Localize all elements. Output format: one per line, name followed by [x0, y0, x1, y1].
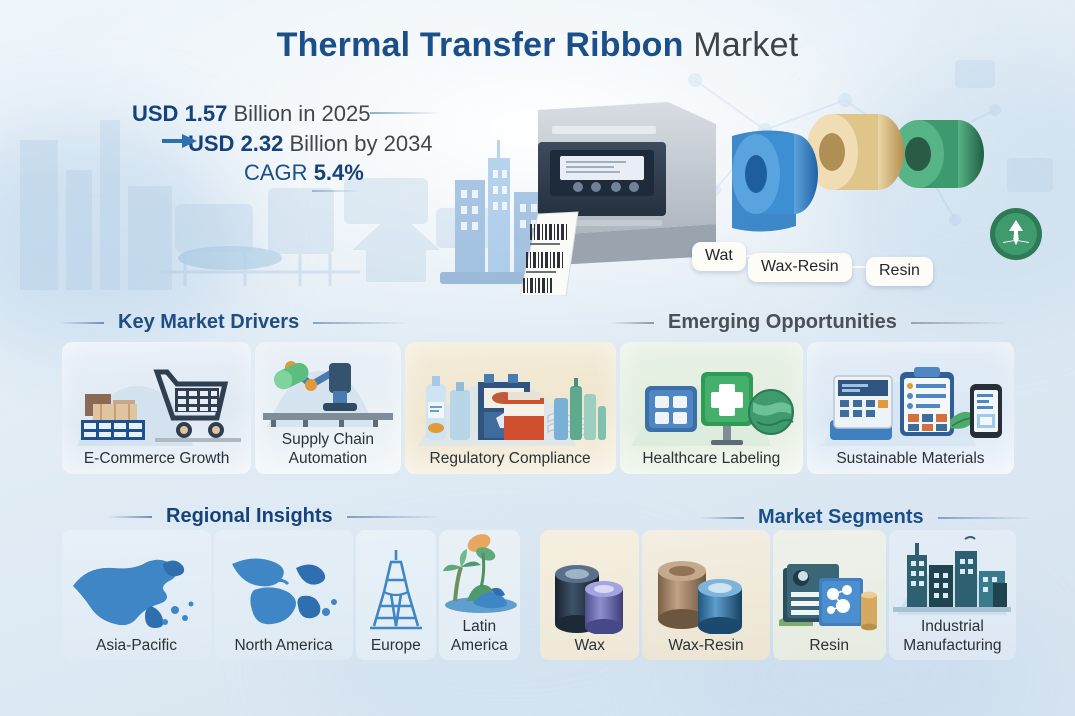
wax-rolls-icon — [540, 530, 639, 637]
stat-line-cagr: CAGR 5.4% — [132, 159, 552, 187]
page-title: Thermal Transfer Ribbon Market — [0, 26, 1075, 65]
region-label: Asia-Pacific — [96, 637, 177, 655]
card-supply-chain-automation[interactable]: Supply Chain Automation — [255, 342, 400, 474]
rule-left — [60, 322, 104, 324]
section-heading-label: Regional Insights — [166, 505, 333, 528]
packaged-goods-icon — [405, 342, 616, 450]
factory-buildings-icon — [889, 529, 1016, 618]
world-map-icon — [214, 530, 353, 637]
section-heading-market-segments: Market Segments — [700, 506, 1034, 529]
segment-label: Industrial Manufacturing — [903, 618, 1001, 655]
card-e-commerce-growth[interactable]: E-Commerce Growth — [62, 342, 251, 474]
section-heading-emerging-opportunities: Emerging Opportunities — [610, 311, 1007, 334]
rule-left — [108, 516, 152, 518]
page-title-muted: Market — [684, 26, 799, 64]
card-regulatory-compliance[interactable]: Regulatory Compliance — [405, 342, 616, 474]
drivers-opportunities-row: E-Commerce Growth — [62, 342, 1014, 474]
card-label: Sustainable Materials — [830, 450, 990, 468]
segment-card-wax-resin[interactable]: Wax-Resin — [642, 530, 769, 660]
section-heading-label: Market Segments — [758, 506, 924, 529]
region-card-asia-pacific[interactable]: Asia-Pacific — [62, 530, 211, 660]
ribbon-type-pill-wax-resin[interactable]: Wax-Resin — [748, 253, 852, 282]
eco-documents-tablet-icon — [807, 342, 1014, 450]
ribbon-type-pill-resin[interactable]: Resin — [866, 257, 933, 286]
region-label: North America — [234, 637, 332, 655]
stat-suffix-2034: Billion by 2034 — [283, 131, 432, 156]
regional-insights-row: Asia-Pacific North America — [62, 530, 520, 660]
segment-label: Wax — [574, 637, 604, 655]
segment-card-wax[interactable]: Wax — [540, 530, 639, 660]
asia-map-icon — [62, 530, 211, 637]
shopping-cart-boxes-icon — [62, 342, 251, 450]
cagr-value: 5.4% — [314, 160, 364, 185]
segment-label: Resin — [809, 637, 849, 655]
hero-section: Thermal Transfer Ribbon Market USD 1.57 … — [0, 0, 1075, 300]
region-label: Europe — [371, 637, 421, 655]
section-heading-regional-insights: Regional Insights — [108, 505, 443, 528]
card-sustainable-materials[interactable]: Sustainable Materials — [807, 342, 1014, 474]
stat-line-base-year: USD 1.57 Billion in 2025 — [132, 100, 552, 128]
region-card-latin-america[interactable]: Latin America — [439, 530, 520, 660]
stat-value-2034: 2.32 — [241, 131, 284, 156]
rule-right — [911, 322, 1007, 324]
card-healthcare-labeling[interactable]: Healthcare Labeling — [620, 342, 803, 474]
ribbon-type-pill-wax[interactable]: Wat — [692, 242, 746, 271]
stat-suffix-2025: Billion in 2025 — [227, 101, 370, 126]
card-label: Regulatory Compliance — [424, 450, 597, 468]
arrow-right-icon — [162, 133, 198, 149]
robot-arm-conveyor-icon — [255, 341, 400, 431]
section-heading-label: Key Market Drivers — [118, 311, 299, 334]
recycle-badge-icon — [990, 208, 1042, 260]
stat-value-2025: 1.57 — [185, 101, 228, 126]
page-title-accent: Thermal Transfer Ribbon — [277, 26, 684, 64]
resin-pack-icon — [773, 530, 886, 637]
segment-card-resin[interactable]: Resin — [773, 530, 886, 660]
section-heading-key-market-drivers: Key Market Drivers — [60, 311, 409, 334]
infographic-root: Thermal Transfer Ribbon Market USD 1.57 … — [0, 0, 1075, 716]
ribbon-rolls-icon — [732, 114, 1042, 260]
barcode-label-strip-icon — [520, 212, 578, 296]
medical-cross-globe-icon — [620, 342, 803, 450]
stat-currency: USD — [132, 101, 185, 126]
rule-right — [938, 517, 1034, 519]
wax-resin-rolls-icon — [642, 530, 769, 637]
rule-left — [700, 517, 744, 519]
region-card-north-america[interactable]: North America — [214, 530, 353, 660]
section-heading-label: Emerging Opportunities — [668, 311, 897, 334]
region-label: Latin America — [451, 618, 508, 655]
region-card-europe[interactable]: Europe — [356, 530, 435, 660]
tropical-scene-icon — [439, 529, 520, 618]
rule-right — [313, 322, 409, 324]
stat-rule — [312, 190, 360, 192]
segment-label: Wax-Resin — [668, 637, 743, 655]
card-label: Healthcare Labeling — [636, 450, 786, 468]
rule-left — [610, 322, 654, 324]
eiffel-tower-icon — [356, 530, 435, 637]
cagr-label: CAGR — [244, 160, 314, 185]
segment-card-industrial-manufacturing[interactable]: Industrial Manufacturing — [889, 530, 1016, 660]
market-segments-row: Wax — [540, 530, 1016, 660]
rule-right — [347, 516, 443, 518]
card-label: E-Commerce Growth — [78, 450, 236, 468]
stat-rule — [370, 112, 440, 114]
market-value-stats: USD 1.57 Billion in 2025 USD 2.32 Billio… — [132, 100, 552, 187]
card-label: Supply Chain Automation — [276, 431, 380, 468]
